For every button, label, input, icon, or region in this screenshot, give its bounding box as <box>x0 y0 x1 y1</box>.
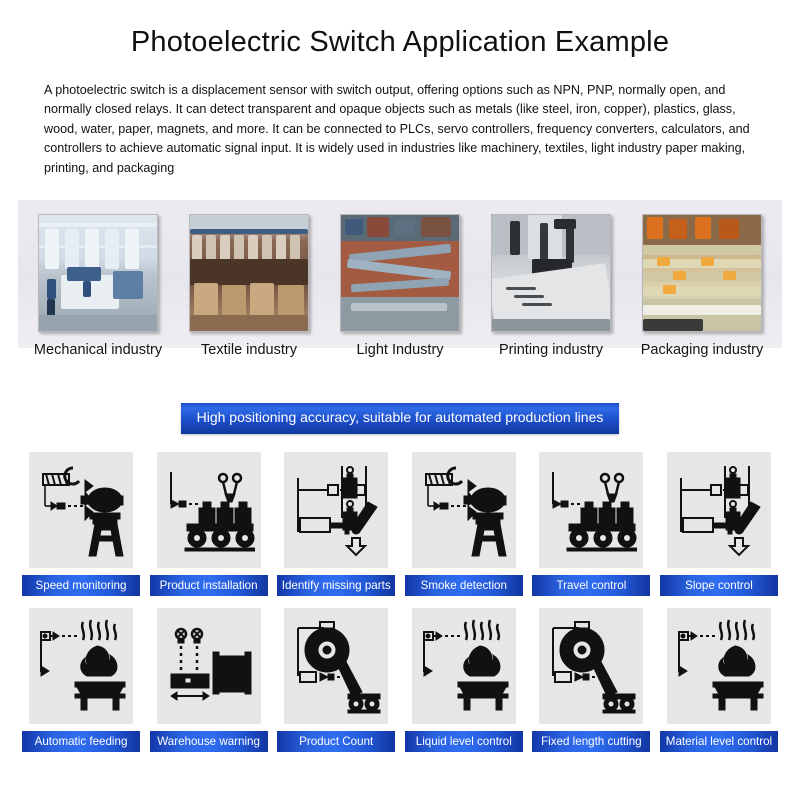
application-tile[interactable]: Identify missing parts <box>277 452 395 596</box>
grinder-speed-icon <box>29 452 133 568</box>
application-grid: Speed monitoring <box>22 452 778 752</box>
application-label: Product installation <box>150 575 268 596</box>
bottle-detect-icon <box>284 452 388 568</box>
gate-barrier-icon <box>157 608 261 724</box>
conveyor-install-icon <box>539 452 643 568</box>
application-label: Slope control <box>660 575 778 596</box>
industry-caption: Light Industry <box>356 343 443 358</box>
application-row-2: Automatic feeding <box>22 608 778 752</box>
grinder-speed-icon <box>412 452 516 568</box>
industry-cell-textile: Textile industry <box>179 214 319 358</box>
reel-count-icon <box>539 608 643 724</box>
application-label: Material level control <box>660 731 778 752</box>
application-tile[interactable]: Automatic feeding <box>22 608 140 752</box>
application-tile[interactable]: Speed monitoring <box>22 452 140 596</box>
bottle-detect-icon <box>667 452 771 568</box>
industry-cell-packaging: Packaging industry <box>632 214 772 358</box>
application-tile[interactable]: Warehouse warning <box>150 608 268 752</box>
application-row-1: Speed monitoring <box>22 452 778 596</box>
application-label: Automatic feeding <box>22 731 140 752</box>
industry-cell-printing: Printing industry <box>481 214 621 358</box>
application-label: Identify missing parts <box>277 575 395 596</box>
application-label: Smoke detection <box>405 575 523 596</box>
flame-pan-icon <box>412 608 516 724</box>
spinning-machines-photo <box>189 214 309 332</box>
page-title: Photoelectric Switch Application Example <box>0 0 800 59</box>
application-tile[interactable]: Travel control <box>532 452 650 596</box>
flame-pan-icon <box>667 608 771 724</box>
application-tile[interactable]: Product Count <box>277 608 395 752</box>
banner-row: High positioning accuracy, suitable for … <box>0 403 800 433</box>
feature-banner: High positioning accuracy, suitable for … <box>181 403 620 433</box>
application-tile[interactable]: Material level control <box>660 608 778 752</box>
application-label: Speed monitoring <box>22 575 140 596</box>
industry-cell-mechanical: Mechanical industry <box>28 214 168 358</box>
application-tile[interactable]: Slope control <box>660 452 778 596</box>
industry-caption: Printing industry <box>499 343 603 358</box>
reel-count-icon <box>284 608 388 724</box>
application-label: Travel control <box>532 575 650 596</box>
application-label: Fixed length cutting <box>532 731 650 752</box>
application-tile[interactable]: Smoke detection <box>405 452 523 596</box>
industry-cell-light: Light Industry <box>330 214 470 358</box>
industry-caption: Mechanical industry <box>34 343 162 358</box>
application-tile[interactable]: Product installation <box>150 452 268 596</box>
printing-press-photo <box>491 214 611 332</box>
industry-caption: Textile industry <box>201 343 297 358</box>
industry-caption: Packaging industry <box>641 343 764 358</box>
application-label: Liquid level control <box>405 731 523 752</box>
bottling-conveyor-photo <box>340 214 460 332</box>
intro-paragraph: A photoelectric switch is a displacement… <box>44 81 756 179</box>
packaging-line-photo <box>642 214 762 332</box>
application-tile[interactable]: Liquid level control <box>405 608 523 752</box>
application-label: Product Count <box>277 731 395 752</box>
industry-photo-strip: Mechanical industry Textile industry <box>18 200 782 348</box>
flame-pan-icon <box>29 608 133 724</box>
application-tile[interactable]: Fixed length cutting <box>532 608 650 752</box>
application-label: Warehouse warning <box>150 731 268 752</box>
conveyor-install-icon <box>157 452 261 568</box>
machine-shop-photo <box>38 214 158 332</box>
